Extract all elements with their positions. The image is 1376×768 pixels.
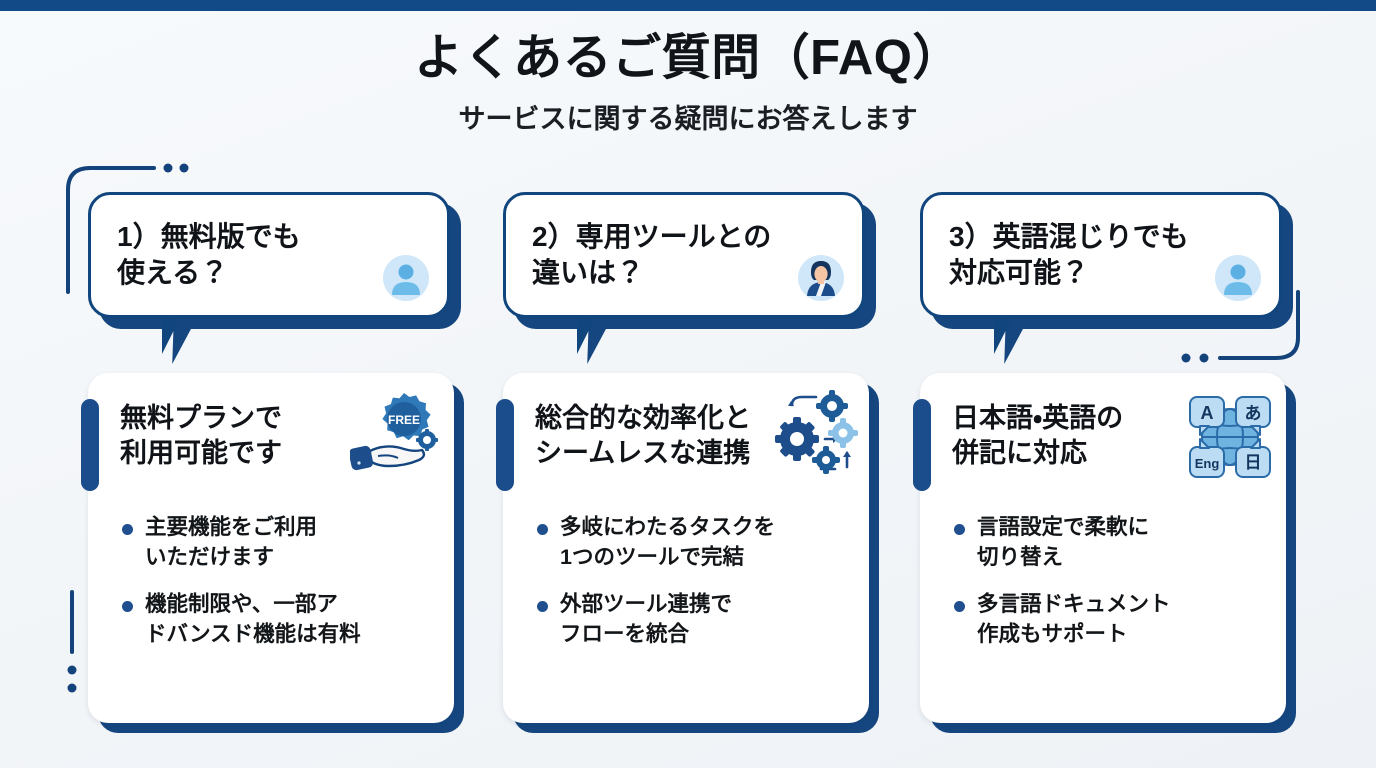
answer-card-1[interactable]: 無料プランで 利用可能です FREE bbox=[88, 373, 468, 738]
bullet-text: 外部ツール連携で フローを統合 bbox=[560, 590, 732, 649]
faq-column-2: 2）専用ツールとの 違いは？ 総合的な効率化と シームレスな連携 bbox=[503, 178, 893, 758]
answer-card-body: 日本語・英語の 併記に対応 bbox=[920, 373, 1286, 723]
user-avatar-icon bbox=[1215, 255, 1261, 301]
answer-bullets: 言語設定で柔軟に 切り替え 多言語ドキュメント 作成もサポート bbox=[954, 513, 1270, 668]
bullet-text: 機能制限や、一部ア ドバンスド機能は有料 bbox=[145, 590, 361, 649]
question-bubble-body: 1）無料版でも 使える？ bbox=[88, 192, 450, 318]
bullet-dot-icon bbox=[954, 601, 965, 612]
user-avatar-icon bbox=[383, 255, 429, 301]
bullet-dot-icon bbox=[954, 524, 965, 535]
svg-text:A: A bbox=[1201, 403, 1214, 423]
faq-column-1: 1）無料版でも 使える？ 無料プランで 利用可能です bbox=[88, 178, 478, 758]
answer-card-3[interactable]: 日本語・英語の 併記に対応 bbox=[920, 373, 1300, 738]
translation-globe-icon: A あ Eng bbox=[1182, 389, 1278, 485]
question-bubble-body: 3）英語混じりでも 対応可能？ bbox=[920, 192, 1282, 318]
answer-card-2[interactable]: 総合的な効率化と シームレスな連携 bbox=[503, 373, 883, 738]
bullet-dot-icon bbox=[537, 524, 548, 535]
accent-bar bbox=[496, 399, 514, 491]
question-bubble-body: 2）専用ツールとの 違いは？ bbox=[503, 192, 865, 318]
bullet-text: 言語設定で柔軟に 切り替え bbox=[977, 513, 1149, 572]
bullet-dot-icon bbox=[537, 601, 548, 612]
svg-text:日: 日 bbox=[1245, 453, 1262, 472]
gears-workflow-icon bbox=[765, 389, 861, 485]
accent-bar bbox=[81, 399, 99, 491]
page-title: よくあるご質問（FAQ） bbox=[0, 32, 1376, 86]
page-header: よくあるご質問（FAQ） サービスに関する疑問にお答えします bbox=[0, 32, 1376, 136]
svg-text:あ: あ bbox=[1245, 404, 1262, 423]
question-tail bbox=[162, 314, 182, 354]
question-text: 3）英語混じりでも 対応可能？ bbox=[923, 219, 1259, 291]
question-bubble-1[interactable]: 1）無料版でも 使える？ bbox=[88, 192, 460, 372]
free-badge-hand-icon: FREE bbox=[350, 389, 446, 485]
faq-columns: 1）無料版でも 使える？ 無料プランで 利用可能です bbox=[0, 178, 1376, 758]
bullet-dot-icon bbox=[122, 524, 133, 535]
list-item: 主要機能をご利用 いただけます bbox=[122, 513, 438, 572]
bullet-text: 多岐にわたるタスクを 1つのツールで完結 bbox=[560, 513, 775, 572]
bullet-text: 多言語ドキュメント 作成もサポート bbox=[977, 590, 1171, 649]
faq-column-3: 3）英語混じりでも 対応可能？ 日本語・英語の 併記に対応 bbox=[920, 178, 1310, 758]
question-tail bbox=[994, 314, 1014, 354]
top-accent-bar bbox=[0, 0, 1376, 11]
question-bubble-3[interactable]: 3）英語混じりでも 対応可能？ bbox=[920, 192, 1292, 372]
bullet-dot-icon bbox=[122, 601, 133, 612]
svg-text:FREE: FREE bbox=[388, 413, 420, 427]
question-text: 2）専用ツールとの 違いは？ bbox=[506, 219, 841, 291]
list-item: 機能制限や、一部ア ドバンスド機能は有料 bbox=[122, 590, 438, 649]
answer-card-body: 無料プランで 利用可能です FREE bbox=[88, 373, 454, 723]
list-item: 外部ツール連携で フローを統合 bbox=[537, 590, 853, 649]
question-tail bbox=[577, 314, 597, 354]
answer-bullets: 多岐にわたるタスクを 1つのツールで完結 外部ツール連携で フローを統合 bbox=[537, 513, 853, 668]
list-item: 多言語ドキュメント 作成もサポート bbox=[954, 590, 1270, 649]
bullet-text: 主要機能をご利用 いただけます bbox=[145, 513, 317, 572]
answer-bullets: 主要機能をご利用 いただけます 機能制限や、一部ア ドバンスド機能は有料 bbox=[122, 513, 438, 668]
businesswoman-avatar-icon bbox=[798, 255, 844, 301]
question-bubble-2[interactable]: 2）専用ツールとの 違いは？ bbox=[503, 192, 875, 372]
list-item: 言語設定で柔軟に 切り替え bbox=[954, 513, 1270, 572]
svg-text:Eng: Eng bbox=[1195, 456, 1220, 471]
accent-bar bbox=[913, 399, 931, 491]
list-item: 多岐にわたるタスクを 1つのツールで完結 bbox=[537, 513, 853, 572]
answer-card-body: 総合的な効率化と シームレスな連携 bbox=[503, 373, 869, 723]
question-text: 1）無料版でも 使える？ bbox=[91, 219, 371, 291]
page-subtitle: サービスに関する疑問にお答えします bbox=[0, 97, 1376, 136]
